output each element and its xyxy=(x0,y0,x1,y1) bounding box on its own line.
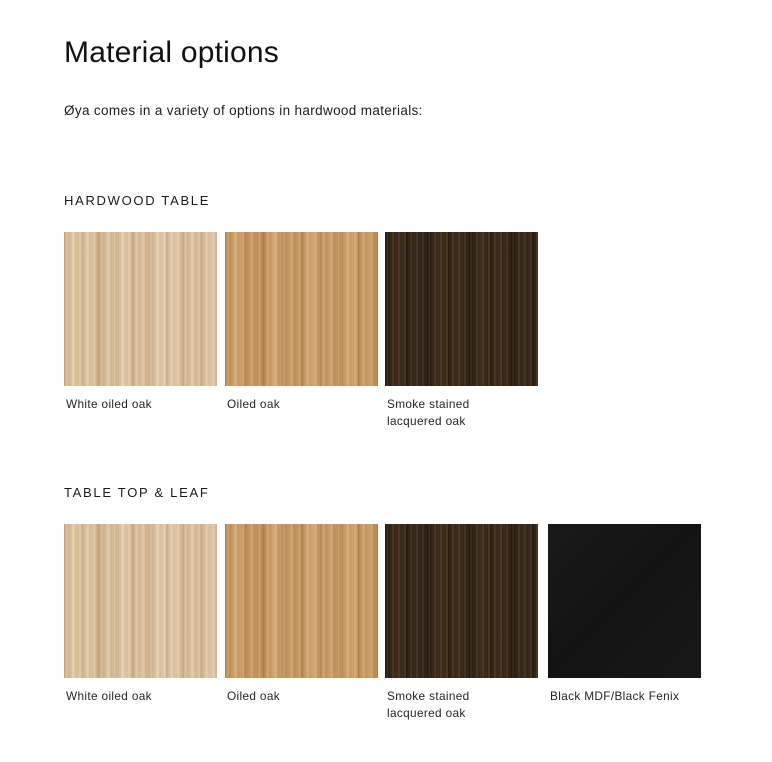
swatch-item[interactable]: Black MDF/Black Fenix xyxy=(548,524,701,705)
swatch-item[interactable]: White oiled oak xyxy=(64,232,217,413)
swatch-white-oiled-oak[interactable] xyxy=(64,524,217,678)
material-options-page: Material options Øya comes in a variety … xyxy=(0,0,772,762)
swatch-white-oiled-oak[interactable] xyxy=(64,232,217,386)
swatch-label: Smoke stained lacquered oak xyxy=(387,396,538,430)
swatch-smoke-stained-lacquered-oak[interactable] xyxy=(385,232,538,386)
intro-paragraph: Øya comes in a variety of options in har… xyxy=(64,103,423,118)
swatch-black-mdf-black-fenix[interactable] xyxy=(548,524,701,678)
section-heading-table-top-leaf: TABLE TOP & LEAF xyxy=(64,485,209,500)
swatch-item[interactable]: Oiled oak xyxy=(225,232,378,413)
swatch-row-table-top-leaf: White oiled oak Oiled oak Smoke stained … xyxy=(64,524,764,724)
swatch-label: White oiled oak xyxy=(66,396,217,413)
swatch-item[interactable]: White oiled oak xyxy=(64,524,217,705)
swatch-item[interactable]: Smoke stained lacquered oak xyxy=(385,232,538,430)
swatch-smoke-stained-lacquered-oak[interactable] xyxy=(385,524,538,678)
swatch-item[interactable]: Smoke stained lacquered oak xyxy=(385,524,538,722)
swatch-label: White oiled oak xyxy=(66,688,217,705)
swatch-label: Oiled oak xyxy=(227,688,378,705)
swatch-oiled-oak[interactable] xyxy=(225,524,378,678)
section-heading-hardwood-table: HARDWOOD TABLE xyxy=(64,193,210,208)
swatch-label: Black MDF/Black Fenix xyxy=(550,688,701,705)
swatch-oiled-oak[interactable] xyxy=(225,232,378,386)
swatch-label: Oiled oak xyxy=(227,396,378,413)
swatch-row-hardwood-table: White oiled oak Oiled oak Smoke stained … xyxy=(64,232,764,432)
swatch-label: Smoke stained lacquered oak xyxy=(387,688,538,722)
swatch-item[interactable]: Oiled oak xyxy=(225,524,378,705)
page-title: Material options xyxy=(64,36,279,69)
